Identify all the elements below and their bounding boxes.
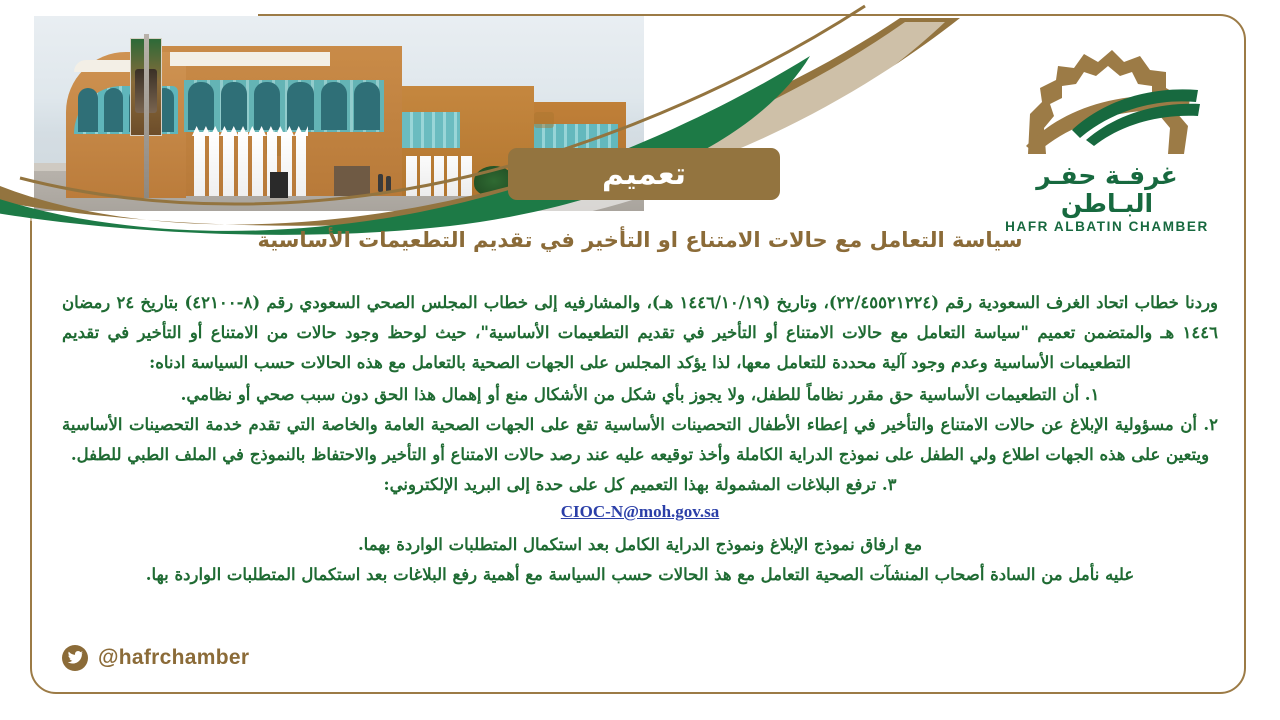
photo-entrance-columns-right — [406, 156, 472, 196]
photo-person — [386, 176, 391, 192]
photo-arch-windows — [188, 82, 380, 130]
closing-line-1: مع ارفاق نموذج الإبلاغ ونموذج الدراية ال… — [62, 530, 1218, 560]
photo-entrance-door — [334, 166, 370, 196]
twitter-handle[interactable]: @hafrchamber — [98, 646, 249, 670]
circular-document: غرفـة حفـر البـاطن HAFR ALBATIN CHAMBER … — [0, 0, 1280, 720]
photo-entrance-columns — [194, 132, 306, 196]
photo-street-object — [270, 172, 288, 198]
logo-arabic-name: غرفـة حفـر البـاطن — [992, 162, 1222, 217]
page-title: سياسة التعامل مع حالات الامتناع او التأخ… — [60, 228, 1220, 252]
photo-emblem-secondary — [534, 112, 554, 128]
chamber-arch-logo-icon — [1012, 42, 1202, 160]
policy-item-1: ١. أن التطعيمات الأساسية حق مقرر نظاماً … — [62, 380, 1218, 410]
closing-line-2: عليه نأمل من السادة أصحاب المنشآت الصحية… — [62, 560, 1218, 590]
circular-type-label: تعميم — [602, 157, 686, 192]
report-email-link[interactable]: CIOC-N@moh.gov.sa — [62, 502, 1218, 522]
circular-type-badge: تعميم — [508, 148, 780, 200]
photo-person — [378, 174, 383, 192]
policy-item-2: ٢. أن مسؤولية الإبلاغ عن حالات الامتناع … — [62, 410, 1218, 470]
intro-paragraph: وردنا خطاب اتحاد الغرف السعودية رقم (٢٢/… — [62, 288, 1218, 378]
photo-flagpole — [144, 34, 149, 198]
twitter-bird-icon[interactable] — [62, 645, 88, 671]
social-footer: @hafrchamber — [62, 645, 249, 671]
photo-signboard-main — [170, 52, 330, 66]
document-body: وردنا خطاب اتحاد الغرف السعودية رقم (٢٢/… — [62, 288, 1218, 590]
chamber-logo: غرفـة حفـر البـاطن HAFR ALBATIN CHAMBER — [992, 42, 1222, 212]
policy-item-3: ٣. ترفع البلاغات المشمولة بهذا التعميم ك… — [62, 470, 1218, 500]
photo-glass-right — [402, 112, 460, 148]
